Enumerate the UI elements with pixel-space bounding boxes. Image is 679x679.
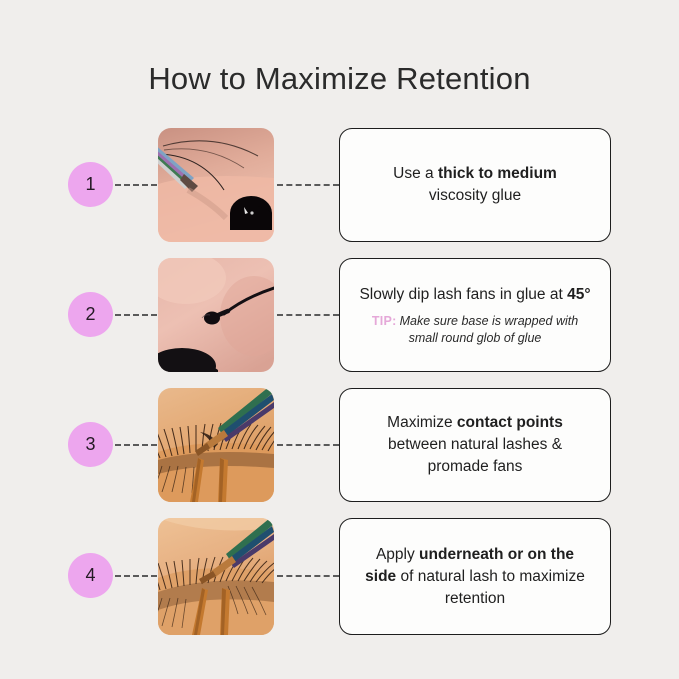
- step-image-tweezers-lash-fan-with-glue-drop-on-skin: [158, 128, 274, 242]
- card-text-bold: 45°: [567, 286, 590, 303]
- card-line: Apply underneath or on the: [376, 544, 574, 566]
- connector-dashed-left: [115, 314, 157, 316]
- tip-block: TIP:Make sure base is wrapped with small…: [372, 313, 578, 347]
- connector-dashed-right: [277, 575, 339, 577]
- step-text-card: Maximize contact points between natural …: [339, 388, 611, 502]
- card-text-bold: side: [365, 568, 396, 585]
- card-text-suffix: of natural lash to maximize: [396, 568, 585, 585]
- card-line: between natural lashes &: [388, 434, 562, 456]
- card-text-prefix: retention: [445, 590, 505, 607]
- connector-dashed-right: [277, 184, 339, 186]
- card-text-bold: thick to medium: [438, 165, 557, 182]
- card-text-bold: underneath or on the: [419, 546, 574, 563]
- card-line: viscosity glue: [429, 185, 521, 207]
- card-line: Use a thick to medium: [393, 163, 557, 185]
- page-title: How to Maximize Retention: [0, 61, 679, 97]
- card-text-prefix: between natural lashes &: [388, 436, 562, 453]
- card-line: Slowly dip lash fans in glue at 45°: [359, 284, 590, 306]
- card-text-prefix: viscosity glue: [429, 187, 521, 204]
- connector-dashed-left: [115, 575, 157, 577]
- step-text-card: Apply underneath or on the side of natur…: [339, 518, 611, 635]
- card-text-prefix: Slowly dip lash fans in glue at: [359, 286, 567, 303]
- card-text-prefix: Use a: [393, 165, 438, 182]
- tip-text-line-1: Make sure base is wrapped with: [400, 314, 579, 328]
- step-row: 4: [0, 518, 679, 636]
- step-image-lash-applied-underneath-natural-lash: [158, 518, 274, 635]
- card-line: side of natural lash to maximize: [365, 566, 585, 588]
- connector-dashed-left: [115, 444, 157, 446]
- card-text-prefix: Maximize: [387, 414, 457, 431]
- card-text-prefix: Apply: [376, 546, 419, 563]
- card-text-prefix: promade fans: [428, 458, 523, 475]
- connector-dashed-right: [277, 314, 339, 316]
- step-number-badge: 3: [68, 422, 113, 467]
- step-text-card: Slowly dip lash fans in glue at 45° TIP:…: [339, 258, 611, 372]
- step-number-badge: 2: [68, 292, 113, 337]
- connector-dashed-right: [277, 444, 339, 446]
- step-row: 1: [0, 128, 679, 243]
- step-image-lash-extension-contact-points-closeup: [158, 388, 274, 502]
- connector-dashed-left: [115, 184, 157, 186]
- step-row: 3: [0, 388, 679, 503]
- step-row: 2 Slowly dip lash fans in glue at: [0, 258, 679, 373]
- card-line: promade fans: [428, 456, 523, 478]
- step-number-badge: 1: [68, 162, 113, 207]
- card-line: retention: [445, 588, 505, 610]
- card-line: Maximize contact points: [387, 412, 563, 434]
- step-image-lash-fan-dipped-in-glue-at-angle: [158, 258, 274, 372]
- step-text-card: Use a thick to medium viscosity glue: [339, 128, 611, 242]
- step-number-badge: 4: [68, 553, 113, 598]
- tip-text-line-2: small round glob of glue: [409, 331, 542, 345]
- tip-label: TIP:: [372, 314, 397, 328]
- card-text-bold: contact points: [457, 414, 563, 431]
